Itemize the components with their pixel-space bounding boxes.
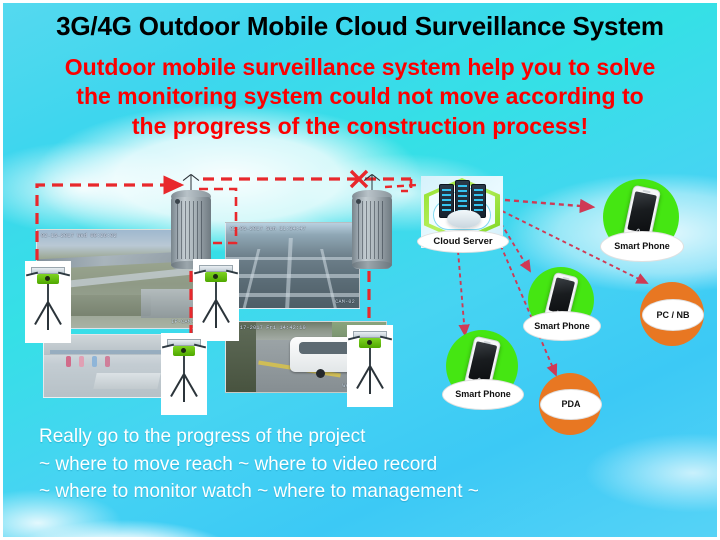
page-title: 3G/4G Outdoor Mobile Cloud Surveillance … bbox=[3, 11, 717, 42]
node-smart-phone-middle[interactable]: Smart Phone bbox=[528, 267, 594, 333]
tripod-camera-icon-2 bbox=[193, 259, 239, 341]
photo-timestamp: 02-05-2017 Sun 11:34:47 bbox=[230, 226, 306, 232]
node-label: PC / NB bbox=[642, 299, 704, 331]
tripod-camera-icon-3 bbox=[161, 333, 207, 415]
node-smart-phone-top-right[interactable]: Smart Phone bbox=[603, 179, 679, 255]
subtitle-text: Outdoor mobile surveillance system help … bbox=[25, 53, 695, 141]
photo-timestamp: 02-15-2017 Wed 09:26:02 bbox=[41, 233, 117, 239]
node-pc-nb[interactable]: PC / NB bbox=[640, 282, 704, 346]
storage-disc-icon bbox=[447, 210, 481, 228]
cloud-server-label: Cloud Server bbox=[417, 230, 509, 253]
tripod-camera-icon-4 bbox=[347, 325, 393, 407]
node-label: Smart Phone bbox=[442, 379, 524, 410]
node-label: Smart Phone bbox=[600, 231, 684, 262]
slide-canvas: 3G/4G Outdoor Mobile Cloud Surveillance … bbox=[0, 0, 720, 540]
node-label: Smart Phone bbox=[523, 311, 601, 341]
route-right-corner bbox=[401, 179, 411, 191]
photo-foundation-grid: 02-05-2017 Sun 11:34:47 CAM-02 bbox=[225, 222, 360, 309]
tripod-camera-icon-1 bbox=[25, 261, 71, 343]
photo-corner-tag: CAM-02 bbox=[335, 299, 355, 305]
arrow-cloud-to-smartphone-bottom-left bbox=[458, 251, 465, 335]
node-smart-phone-bottom-left[interactable]: Smart Phone bbox=[446, 330, 518, 402]
bottom-caption: Really go to the progress of the project… bbox=[39, 423, 479, 506]
monitoring-tower-icon-right bbox=[352, 175, 392, 275]
arrow-cloud-to-smartphone-top-right bbox=[505, 200, 593, 207]
photo-timestamp: 02-17-2017 Fri 14:42:10 bbox=[230, 325, 306, 331]
node-pda[interactable]: PDA bbox=[539, 373, 601, 435]
node-label: PDA bbox=[540, 389, 602, 420]
